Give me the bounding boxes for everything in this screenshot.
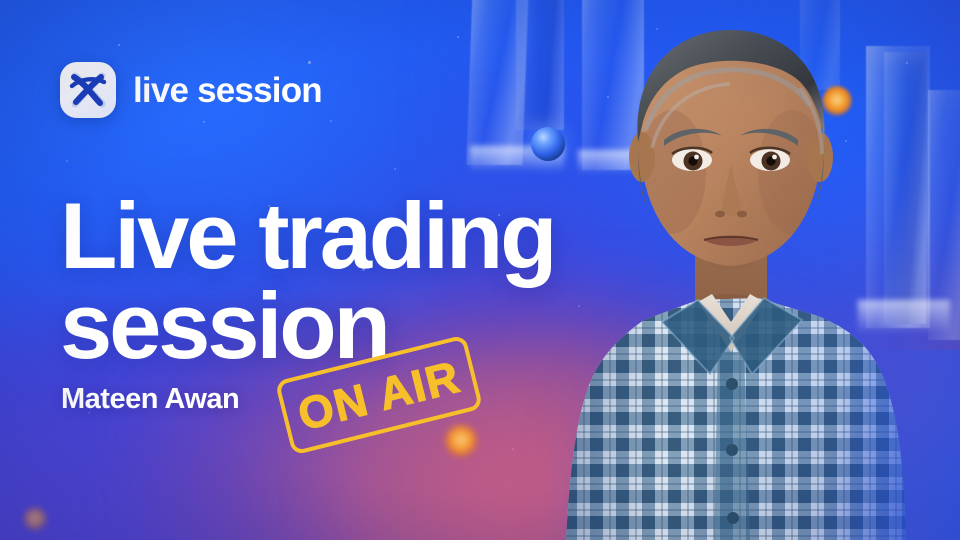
presenter-name: Mateen Awan (61, 383, 239, 416)
headline-line-1: Live trading (60, 191, 554, 281)
page-title: Live trading session (60, 191, 554, 371)
live-session-x-mark-icon (60, 62, 116, 118)
brand-logo[interactable]: live session (60, 62, 322, 118)
presenter-photo (512, 22, 960, 540)
headline-line-2: session (60, 281, 554, 371)
promo-banner: live session Live trading session Mateen… (0, 0, 960, 540)
brand-name: live session (133, 73, 322, 108)
